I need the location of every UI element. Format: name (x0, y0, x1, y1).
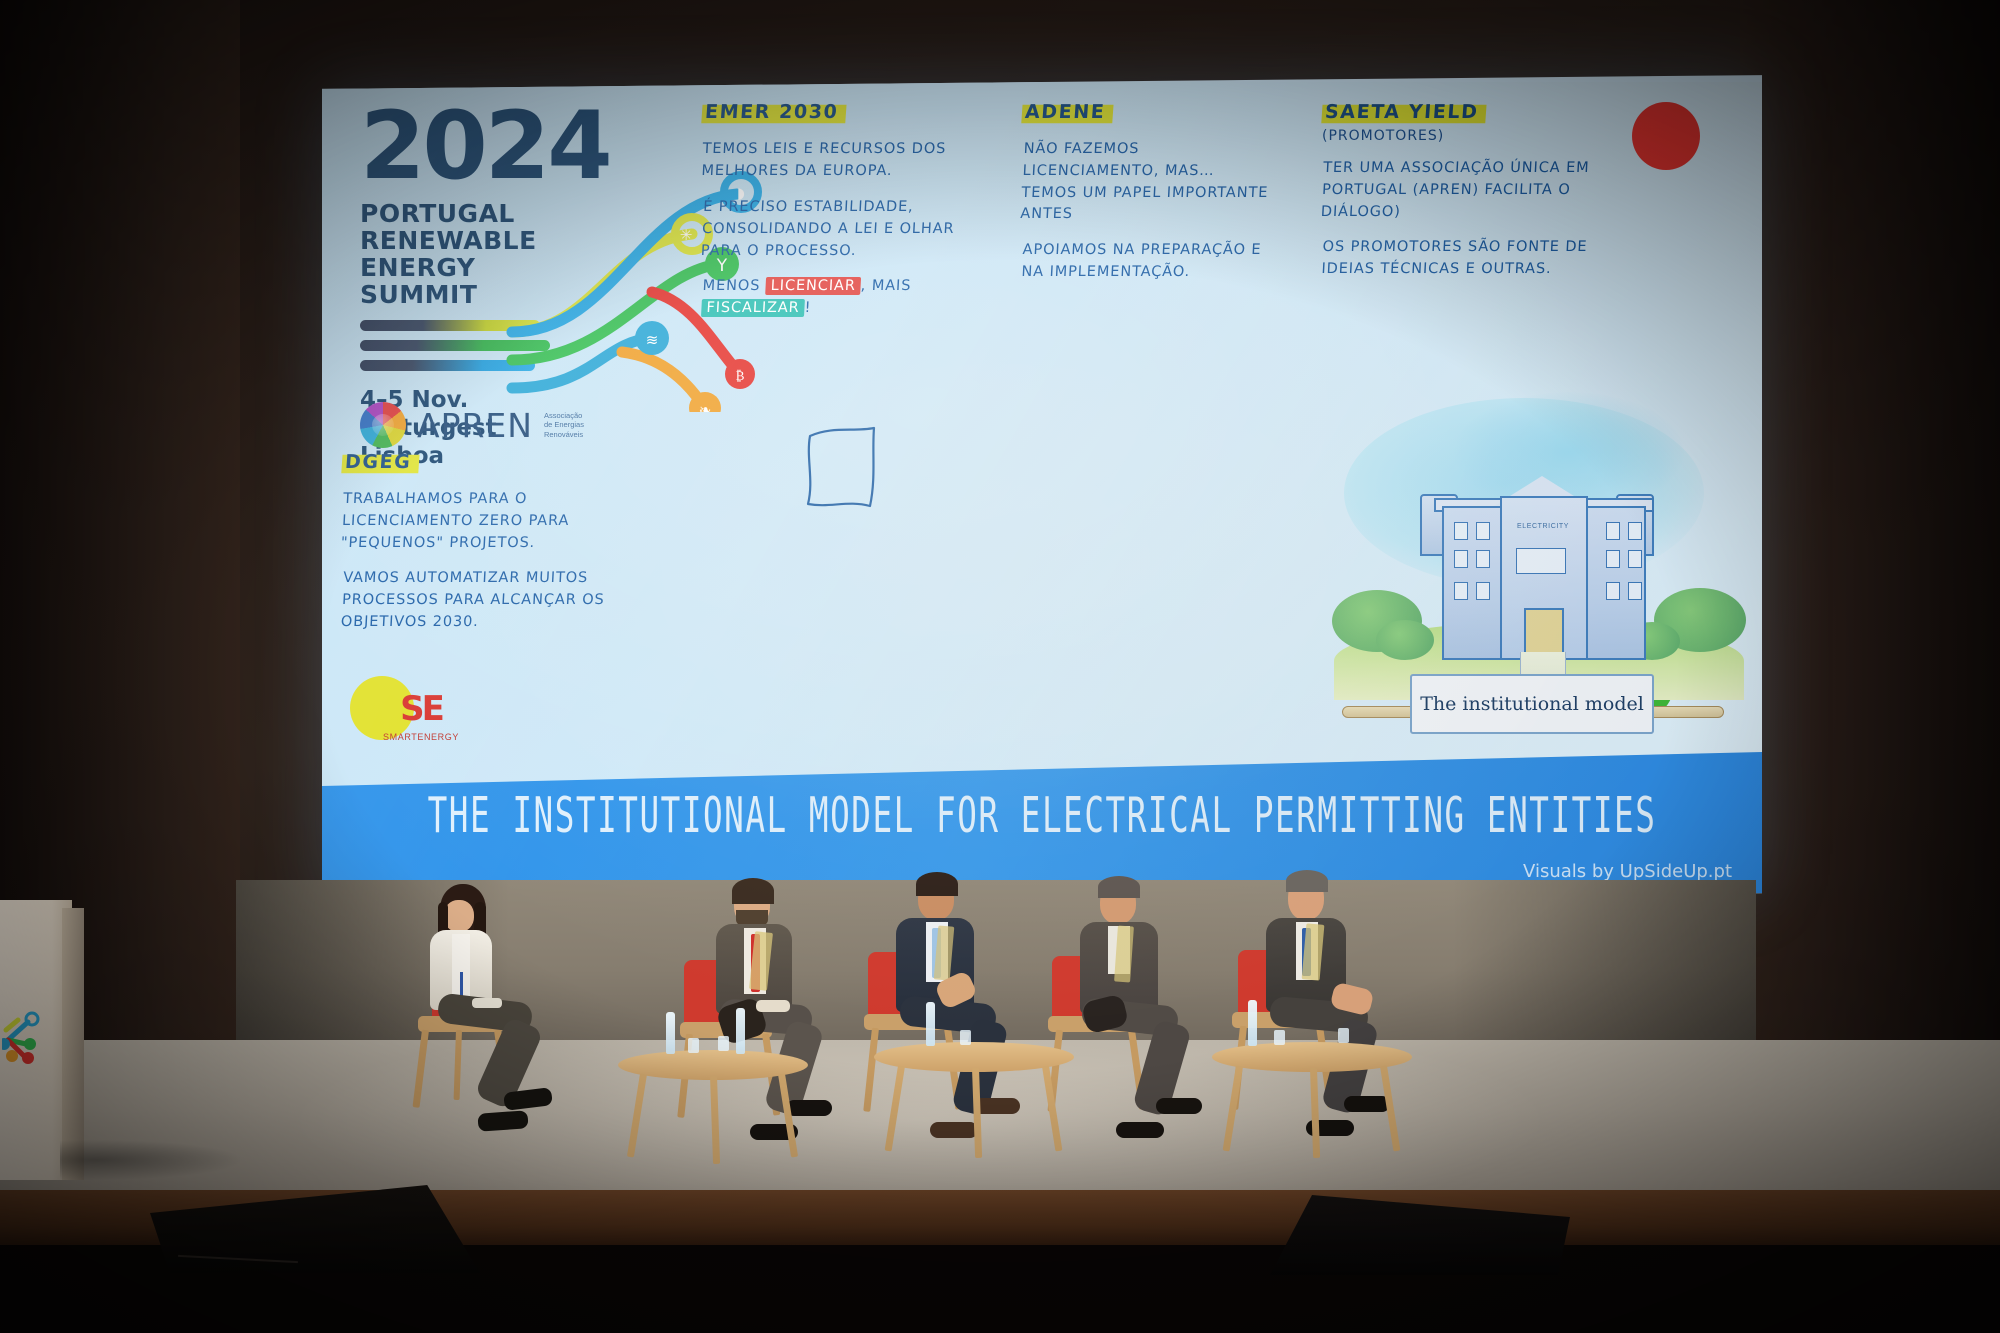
room-vignette (0, 0, 2000, 1333)
conference-photo: 2024 PORTUGAL RENEWABLE ENERGY SUMMIT 4–… (0, 0, 2000, 1333)
